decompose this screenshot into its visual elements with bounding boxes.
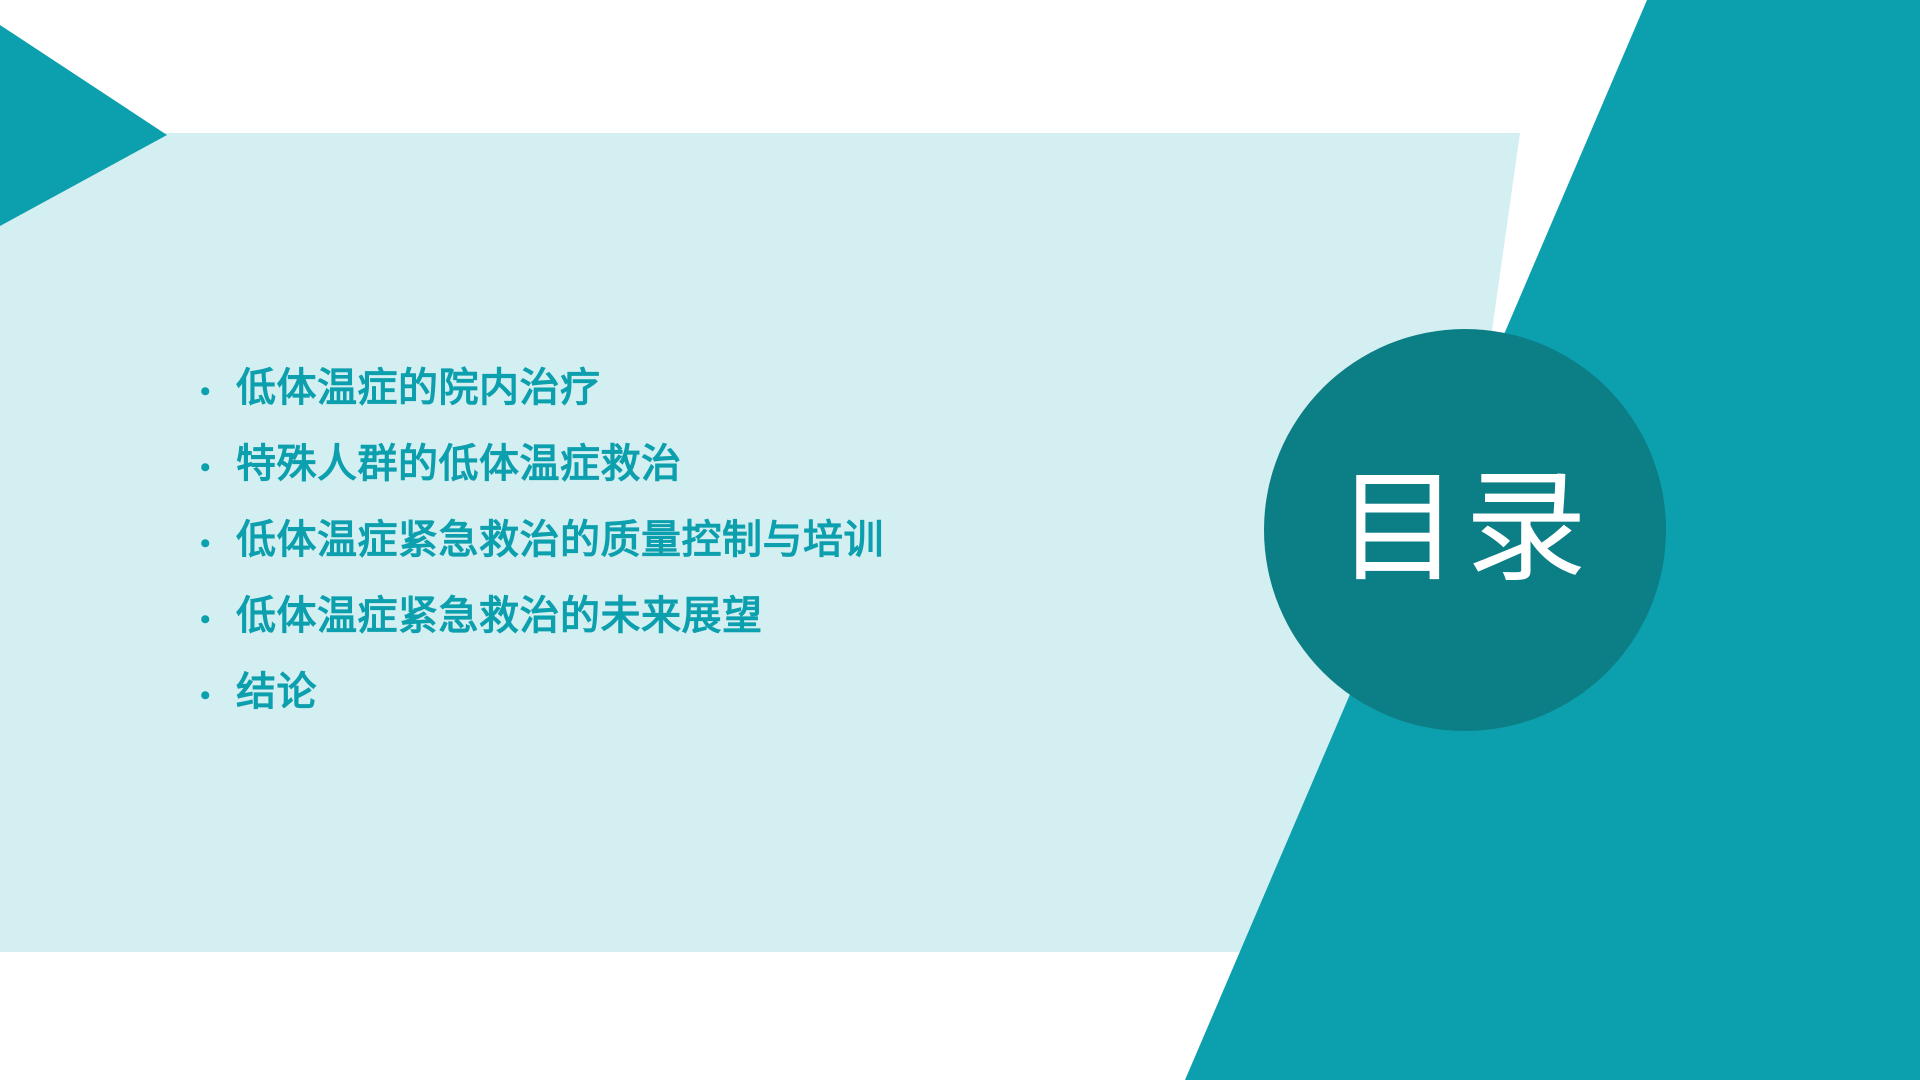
toc-item-label: 结论 xyxy=(236,672,317,712)
toc-item-label: 低体温症紧急救治的质量控制与培训 xyxy=(236,520,884,560)
toc-item-4[interactable]: • 低体温症紧急救治的未来展望 xyxy=(200,596,1020,636)
toc-item-label: 特殊人群的低体温症救治 xyxy=(236,444,682,484)
toc-circle-badge: 目录 xyxy=(1264,329,1666,731)
slide-canvas: • 低体温症的院内治疗 • 特殊人群的低体温症救治 • 低体温症紧急救治的质量控… xyxy=(0,0,1920,1080)
toc-item-3[interactable]: • 低体温症紧急救治的质量控制与培训 xyxy=(200,520,1020,560)
bullet-marker-icon: • xyxy=(200,681,236,711)
toc-bullet-list: • 低体温症的院内治疗 • 特殊人群的低体温症救治 • 低体温症紧急救治的质量控… xyxy=(200,368,1020,712)
toc-item-5[interactable]: • 结论 xyxy=(200,672,1020,712)
toc-circle-label: 目录 xyxy=(1337,469,1593,591)
bullet-marker-icon: • xyxy=(200,529,236,559)
bullet-marker-icon: • xyxy=(200,453,236,483)
toc-item-label: 低体温症的院内治疗 xyxy=(236,368,601,408)
toc-item-1[interactable]: • 低体温症的院内治疗 xyxy=(200,368,1020,408)
toc-item-label: 低体温症紧急救治的未来展望 xyxy=(236,596,763,636)
bullet-marker-icon: • xyxy=(200,605,236,635)
bullet-marker-icon: • xyxy=(200,377,236,407)
toc-item-2[interactable]: • 特殊人群的低体温症救治 xyxy=(200,444,1020,484)
